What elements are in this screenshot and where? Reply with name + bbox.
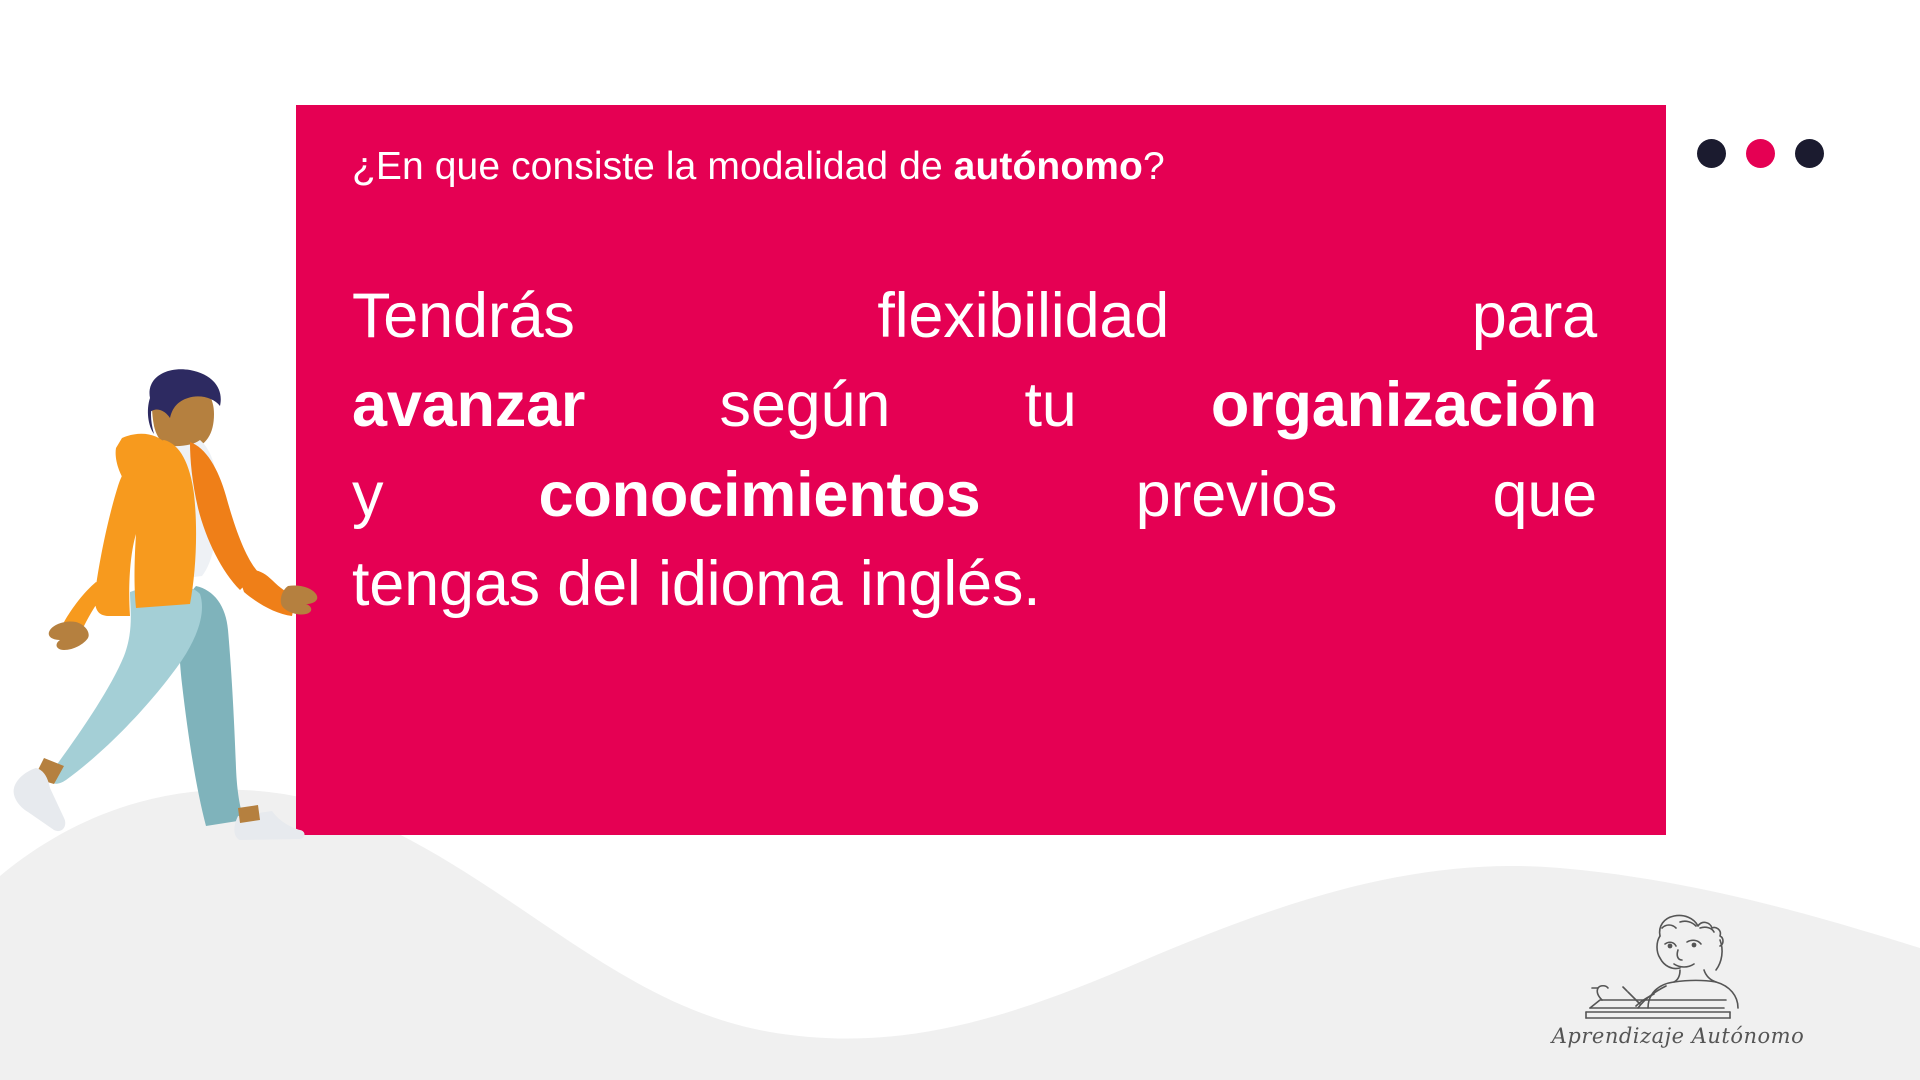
body-line-3-bold: conocimientos bbox=[538, 460, 980, 530]
body-line-2-text: según tu bbox=[585, 370, 1211, 440]
card-inner: ¿En que consiste la modalidad de autónom… bbox=[352, 143, 1597, 630]
person-back-ankle bbox=[238, 805, 260, 823]
eyebrow-bold-term: autónomo bbox=[954, 145, 1143, 188]
dot-3-icon bbox=[1795, 139, 1824, 168]
eyebrow-prefix: ¿En que consiste la modalidad de bbox=[352, 145, 954, 188]
body-line-1: Tendrás flexibilidad para bbox=[352, 272, 1597, 361]
slide-canvas: ¿En que consiste la modalidad de autónom… bbox=[0, 0, 1920, 1080]
body-line-2-bold-2: organización bbox=[1211, 370, 1597, 440]
dot-1-icon bbox=[1697, 139, 1726, 168]
body-line-3-text-1: y bbox=[352, 460, 538, 530]
person-back-hand bbox=[49, 621, 89, 650]
person-jacket bbox=[95, 440, 196, 616]
eyebrow-suffix: ? bbox=[1143, 145, 1165, 188]
decorative-dots bbox=[1697, 139, 1824, 168]
walking-person-illustration bbox=[0, 368, 330, 858]
dot-2-icon bbox=[1746, 139, 1775, 168]
body-line-1-text: Tendrás flexibilidad para bbox=[352, 281, 1597, 351]
logo-wordmark: Aprendizaje Autónomo bbox=[1528, 1024, 1828, 1048]
writing-person-logo-icon bbox=[1528, 908, 1828, 1026]
body-line-2-bold-1: avanzar bbox=[352, 370, 585, 440]
card-body-text: Tendrás flexibilidad para avanzar según … bbox=[352, 272, 1597, 630]
body-line-4: tengas del idioma inglés. bbox=[352, 540, 1597, 629]
content-card: ¿En que consiste la modalidad de autónom… bbox=[296, 105, 1666, 835]
brand-logo: Aprendizaje Autónomo bbox=[1528, 908, 1828, 1068]
body-line-4-text: tengas del idioma inglés. bbox=[352, 549, 1040, 619]
card-eyebrow-question: ¿En que consiste la modalidad de autónom… bbox=[352, 143, 1597, 192]
body-line-2: avanzar según tu organización bbox=[352, 361, 1597, 450]
body-line-3: y conocimientos previos que bbox=[352, 451, 1597, 540]
body-line-3-text-2: previos que bbox=[980, 460, 1597, 530]
